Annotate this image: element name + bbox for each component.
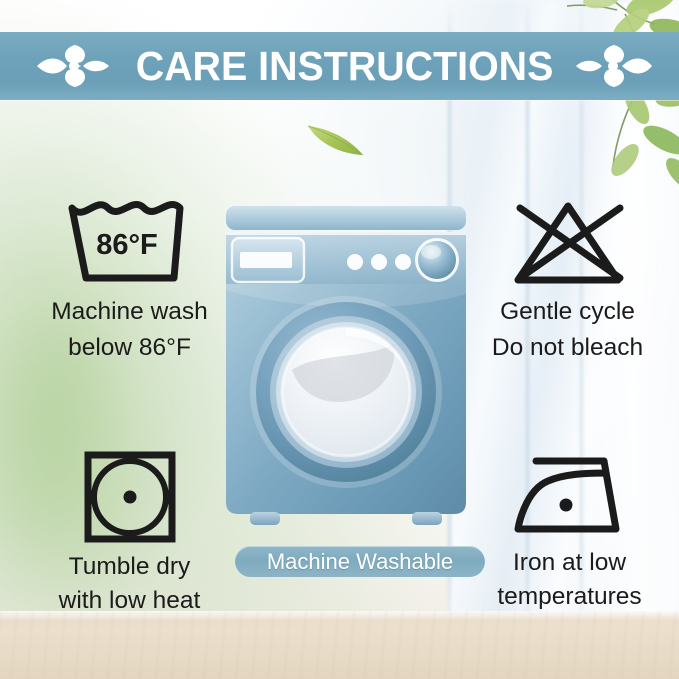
washing-machine-illustration [222, 202, 470, 542]
header-banner: CARE INSTRUCTIONS [0, 32, 679, 100]
caption-line-2: with low heat [22, 587, 237, 615]
caption-line-1: Gentle cycle [460, 298, 675, 326]
icon-cell-tumble-dry: Tumble dry with low heat [22, 447, 237, 615]
fleur-de-lis-ornament-right-icon [576, 43, 652, 89]
table-wood-grain [0, 611, 679, 679]
icon-cell-machine-wash: 86°F Machine wash below 86°F [22, 198, 237, 362]
iron-icon [508, 447, 632, 543]
machine-washable-badge: Machine Washable [235, 546, 485, 577]
caption-line-2: temperatures [462, 583, 677, 611]
icon-cell-no-bleach: Gentle cycle Do not bleach [460, 198, 675, 362]
care-instructions-infographic: CARE INSTRUCTIONS [0, 0, 679, 679]
floating-leaf-icon [305, 122, 367, 158]
fleur-de-lis-ornament-left-icon [37, 43, 113, 89]
page-title: CARE INSTRUCTIONS [136, 46, 554, 87]
icon-cell-iron: Iron at low temperatures [462, 447, 677, 611]
wash-temperature-value: 86°F [96, 229, 158, 261]
caption-line-1: Iron at low [462, 549, 677, 577]
caption-line-1: Tumble dry [22, 553, 237, 581]
triangle-crossed-out-icon [502, 198, 634, 290]
caption-line-1: Machine wash [22, 298, 237, 326]
wash-tub-icon: 86°F [64, 198, 196, 290]
tumble-dry-square-icon [78, 447, 182, 547]
badge-label: Machine Washable [267, 551, 453, 573]
caption-line-2: Do not bleach [460, 334, 675, 362]
caption-line-2: below 86°F [22, 334, 237, 362]
